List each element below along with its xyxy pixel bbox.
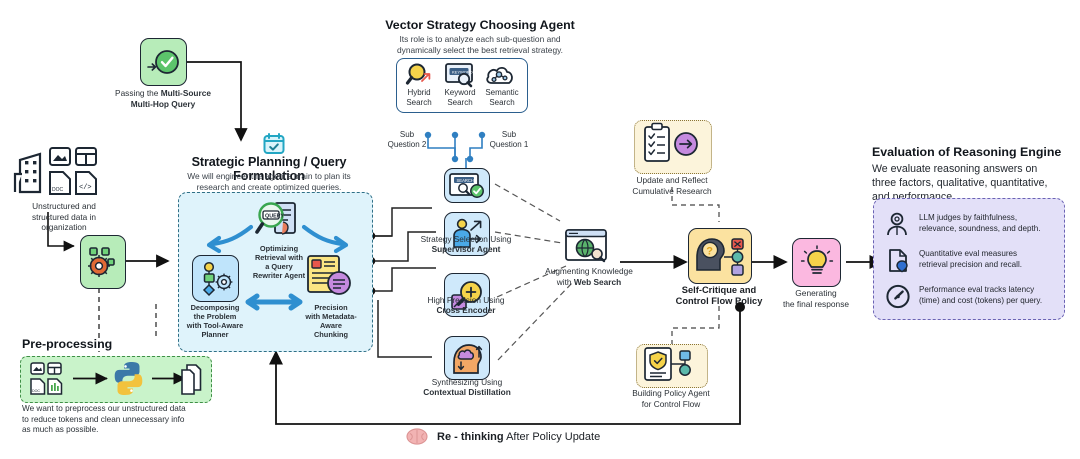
distillation-label-top: Synthesizing Using: [404, 377, 530, 387]
planning-left-tile[interactable]: [192, 255, 239, 302]
contextual-distillation-node[interactable]: [444, 336, 490, 380]
planning-center-l4: Rewriter Agent: [244, 271, 314, 280]
svg-text:</>: </>: [79, 184, 92, 192]
preprocessing-panel: DOC: [20, 356, 212, 403]
hybrid-search-label: Hybrid Search: [397, 88, 441, 108]
planning-right-label: Precision with Metadata- Aware Chunking: [298, 303, 364, 339]
source-caption-line2: structured data in: [14, 212, 114, 223]
supervisor-label-top: Strategy Selection Using: [410, 234, 522, 244]
gear-data-icon: [86, 245, 120, 279]
eval-quant-l1: Quantitative eval measures: [919, 248, 1022, 259]
sub-q2-l2: Question 2: [382, 140, 432, 150]
speedometer-icon: [885, 284, 911, 309]
sub-question-2-label: Sub Question 2: [382, 130, 432, 150]
evaluation-item-performance: Performance eval tracks latency (time) a…: [885, 284, 1053, 309]
vector-agent-subtitle-l1: Its role is to analyze each sub-question…: [362, 34, 598, 45]
vector-agent-subtitle: Its role is to analyze each sub-question…: [362, 34, 598, 56]
cross-encoder-label-bottom: Cross Encoder: [412, 305, 520, 315]
eval-perf-l1: Performance eval tracks latency: [919, 284, 1042, 295]
update-reflect-label: Update and Reflect Cumulative Research: [614, 175, 730, 196]
semantic-l1: Semantic: [480, 88, 524, 98]
rethinking-group: Re - thinking After Policy Update: [406, 428, 600, 445]
cross-encoder-label-top: High Precision Using: [412, 295, 520, 305]
planning-left-l3: with Tool-Aware: [184, 321, 246, 330]
self-critique-l2: Control Flow Policy: [665, 296, 773, 307]
keyword-search-icon[interactable]: KEYWORD: [444, 62, 474, 88]
self-critique-label: Self-Critique and Control Flow Policy: [665, 285, 773, 308]
contextual-distillation-icon: [449, 341, 485, 375]
update-reflect-panel[interactable]: [634, 120, 712, 174]
query-caption-bold1: Multi-Source: [161, 88, 211, 98]
evaluation-title: Evaluation of Reasoning Engine: [872, 145, 1061, 159]
diagram-canvas: DOC </> Unstructured and structured data…: [0, 0, 1080, 459]
planning-left-l4: Planner: [184, 330, 246, 339]
semantic-search-label: Semantic Search: [480, 88, 524, 108]
search-node[interactable]: SEARCH: [444, 168, 490, 203]
planning-right-l2: with Metadata-: [298, 312, 364, 321]
preprocessing-title: Pre-processing: [22, 337, 112, 351]
hybrid-l2: Search: [397, 98, 441, 108]
policy-agent-l1: Building Policy Agent: [613, 388, 729, 399]
brain-icon: [406, 428, 428, 445]
preprocessing-icons: DOC: [21, 357, 207, 400]
planning-left-l1: Decomposing: [184, 303, 246, 312]
eval-perf-l2: (time) and cost (tokens) per query.: [919, 295, 1042, 306]
search-browser-check-icon: SEARCH: [448, 172, 486, 200]
query-caption-bold2: Multi-Hop Query: [131, 99, 196, 109]
lightbulb-icon: [800, 245, 834, 281]
keyword-l1: Keyword: [437, 88, 483, 98]
self-critique-node[interactable]: ?: [688, 228, 752, 284]
planning-subtitle: We will engineer the agent's brain to pl…: [163, 171, 375, 193]
update-reflect-l1: Update and Reflect: [614, 175, 730, 186]
clipboard-arrow-icon: [635, 121, 707, 169]
source-data-group: DOC </> Unstructured and structured data…: [14, 142, 114, 233]
vector-agent-subtitle-l2: dynamically select the best retrieval st…: [362, 45, 598, 56]
sub-q1-l2: Question 1: [484, 140, 534, 150]
svg-text:DOC: DOC: [52, 187, 64, 193]
evaluation-item-judges: LLM judges by faithfulness, relevance, s…: [885, 212, 1053, 237]
web-search-label-bold: Web Search: [574, 277, 621, 287]
preprocessing-note-line1: We want to preprocess our unstructured d…: [22, 404, 222, 415]
eval-judges-l2: relevance, soundness, and depth.: [919, 223, 1041, 234]
planning-right-l3: Aware: [298, 321, 364, 330]
web-search-label: Augmenting Knowledge with Web Search: [538, 266, 640, 287]
check-circle-arrow-icon: [146, 45, 182, 79]
policy-agent-l2: for Control Flow: [613, 399, 729, 410]
final-response-l1: Generating: [770, 288, 862, 299]
self-critique-l1: Self-Critique and: [665, 285, 773, 296]
judges-icon: [885, 212, 911, 237]
sub-q1-l1: Sub: [484, 130, 534, 140]
planning-center-l3: a Query: [244, 262, 314, 271]
query-caption: Passing the Multi-Source Multi-Hop Query: [105, 88, 221, 109]
final-response-node[interactable]: [792, 238, 841, 287]
planning-right-l4: Chunking: [298, 330, 364, 339]
globe-browser-search-icon[interactable]: [564, 228, 614, 266]
supervisor-label-bottom: Supervisor Agent: [410, 244, 522, 254]
evaluation-sub-l1: We evaluate reasoning answers on: [872, 162, 1072, 176]
sub-question-1-label: Sub Question 1: [484, 130, 534, 150]
svg-text:QUERY: QUERY: [265, 213, 284, 219]
source-caption-line1: Unstructured and: [14, 201, 114, 212]
brain-policy-icon: ?: [693, 234, 747, 278]
rethinking-bold: Re - thinking: [437, 431, 504, 443]
planning-left-label: Decomposing the Problem with Tool-Aware …: [184, 303, 246, 339]
source-icons: DOC </>: [14, 142, 114, 198]
quantitative-doc-icon: [885, 248, 911, 273]
svg-text:DOC: DOC: [32, 389, 40, 393]
final-response-label: Generating the final response: [770, 288, 862, 310]
hybrid-l1: Hybrid: [397, 88, 441, 98]
semantic-search-icon[interactable]: [486, 62, 516, 88]
evaluation-sub-l2: three factors, qualitative, quantitative…: [872, 176, 1072, 190]
cross-encoder-label: High Precision Using Cross Encoder: [412, 295, 520, 316]
calendar-check-icon: [262, 132, 286, 156]
svg-text:SEARCH: SEARCH: [457, 178, 474, 183]
web-search-label-prefix: with: [557, 277, 574, 287]
shield-policy-icon: [637, 345, 703, 383]
web-search-label-top: Augmenting Knowledge: [538, 266, 640, 277]
planning-subtitle-line1: We will engineer the agent's brain to pl…: [163, 171, 375, 182]
hybrid-search-icon[interactable]: [406, 62, 434, 88]
vector-agent-title: Vector Strategy Choosing Agent: [370, 18, 590, 32]
flowchart-gear-icon: [198, 261, 234, 297]
policy-agent-label: Building Policy Agent for Control Flow: [613, 388, 729, 409]
preprocessing-note: We want to preprocess our unstructured d…: [22, 404, 222, 436]
preprocessing-note-line2: to reduce tokens and clean unnecessary i…: [22, 415, 222, 426]
keyword-search-label: Keyword Search: [437, 88, 483, 108]
policy-agent-panel[interactable]: [636, 344, 708, 388]
contextual-distillation-label: Synthesizing Using Contextual Distillati…: [404, 377, 530, 398]
evaluation-panel: LLM judges by faithfulness, relevance, s…: [873, 198, 1065, 320]
query-tile[interactable]: [140, 38, 187, 86]
eval-quant-l2: retrieval precision and recall.: [919, 259, 1022, 270]
ingest-tile[interactable]: [80, 235, 126, 289]
rethinking-rest: After Policy Update: [506, 431, 600, 443]
svg-text:?: ?: [706, 245, 713, 257]
final-response-l2: the final response: [770, 299, 862, 310]
query-caption-prefix: Passing the: [115, 88, 161, 98]
keyword-l2: Search: [437, 98, 483, 108]
eval-judges-l1: LLM judges by faithfulness,: [919, 212, 1041, 223]
planning-right-l1: Precision: [298, 303, 364, 312]
planning-left-l2: the Problem: [184, 312, 246, 321]
update-reflect-l2: Cumulative Research: [614, 186, 730, 197]
metadata-doc-icon[interactable]: [305, 253, 355, 301]
semantic-l2: Search: [480, 98, 524, 108]
source-caption-line3: organization: [14, 222, 114, 233]
distillation-label-bottom: Contextual Distillation: [404, 387, 530, 397]
evaluation-item-quantitative: Quantitative eval measures retrieval pre…: [885, 248, 1053, 273]
planning-double-arrow: [243, 292, 305, 312]
sub-q2-l1: Sub: [382, 130, 432, 140]
preprocessing-note-line3: as much as possible.: [22, 425, 222, 436]
supervisor-agent-label: Strategy Selection Using Supervisor Agen…: [410, 234, 522, 255]
